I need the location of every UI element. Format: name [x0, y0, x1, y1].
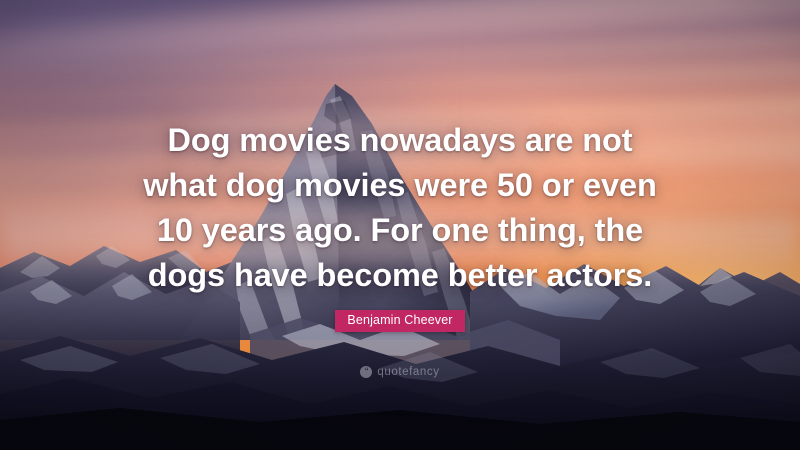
- quote-wallpaper-card: Dog movies nowadays are not what dog mov…: [0, 0, 800, 450]
- quote-mark-glyph: “: [365, 368, 369, 376]
- quotefancy-watermark[interactable]: “ quotefancy: [0, 366, 800, 378]
- foreground-silhouette: [0, 408, 800, 450]
- watermark-brand-label: quotefancy: [377, 366, 439, 378]
- author-name-badge[interactable]: Benjamin Cheever: [335, 310, 464, 332]
- author-badge-wrap: Benjamin Cheever: [0, 310, 800, 332]
- quote-mark-icon: “: [360, 366, 372, 378]
- quote-text: Dog movies nowadays are not what dog mov…: [60, 118, 740, 298]
